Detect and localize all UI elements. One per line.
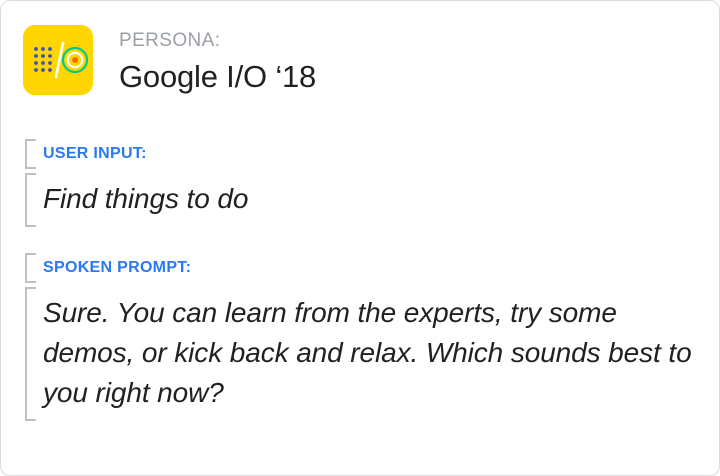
bracket-icon [25,253,36,283]
google-io-logo [23,25,93,95]
spoken-prompt-body-group: Sure. You can learn from the experts, tr… [25,287,695,421]
user-input-label-group: USER INPUT: [25,139,695,169]
user-input-text: Find things to do [43,173,693,227]
spoken-prompt-label: SPOKEN PROMPT: [43,253,695,283]
bracket-icon [25,139,36,169]
spoken-prompt-label-group: SPOKEN PROMPT: [25,253,695,283]
persona-header: PERSONA: Google I/O ‘18 [23,25,316,96]
section-user-input: USER INPUT: Find things to do [25,139,695,227]
spoken-prompt-text: Sure. You can learn from the experts, tr… [43,287,693,421]
user-input-body-group: Find things to do [25,173,695,227]
persona-label: PERSONA: [119,30,316,52]
page-title: Google I/O ‘18 [119,58,316,96]
persona-card: PERSONA: Google I/O ‘18 USER INPUT: Find… [0,0,720,476]
bracket-icon [25,173,36,227]
user-input-label: USER INPUT: [43,139,695,169]
section-spoken-prompt: SPOKEN PROMPT: Sure. You can learn from … [25,253,695,421]
bracket-icon [25,287,36,421]
persona-header-text: PERSONA: Google I/O ‘18 [119,25,316,96]
